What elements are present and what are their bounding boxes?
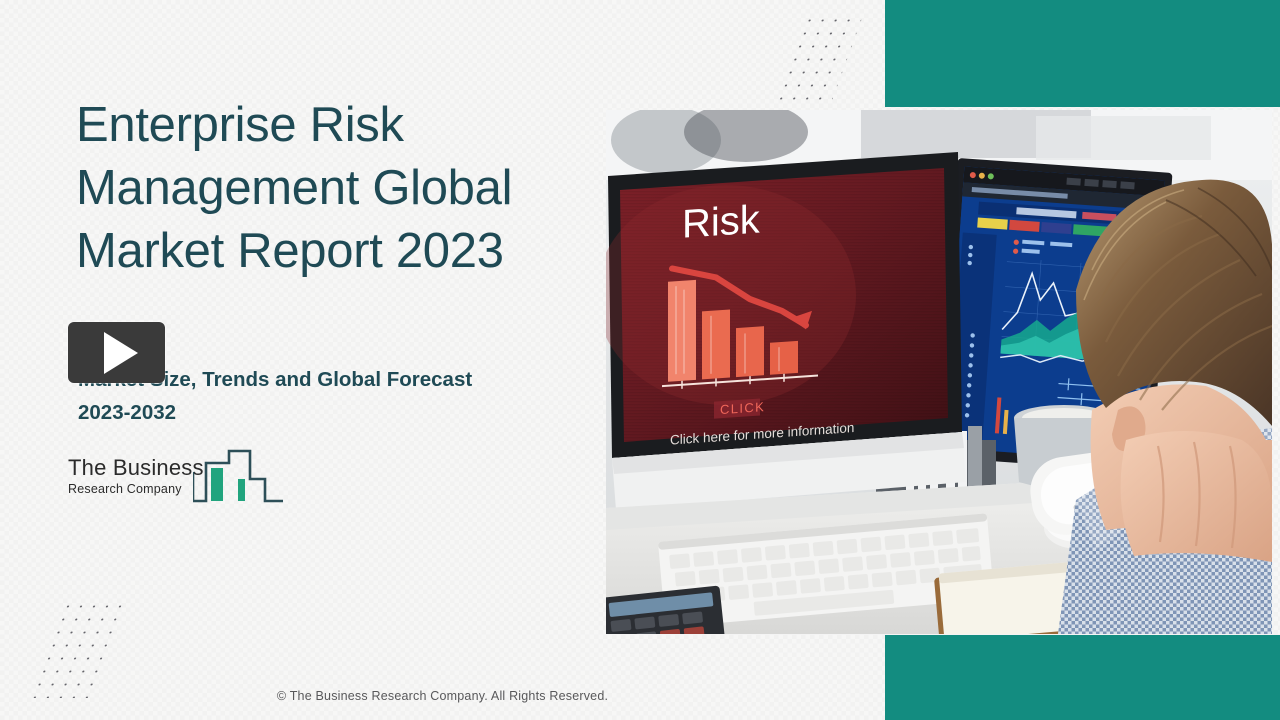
svg-text:Risk: Risk: [682, 197, 761, 246]
teal-accent-block-bottom: [885, 635, 1280, 720]
office-risk-dashboard-illustration: Risk: [606, 110, 1272, 634]
logo-wordmark: The Business Research Company: [68, 457, 204, 496]
company-logo[interactable]: The Business Research Company: [68, 449, 283, 511]
svg-text:CLICK: CLICK: [720, 399, 765, 417]
logo-line-two: Research Company: [68, 483, 204, 496]
hero-photo: Risk: [606, 110, 1272, 634]
teal-accent-block-top: [885, 0, 1280, 107]
dot-pattern-decoration-top: [771, 14, 864, 110]
play-icon: [104, 332, 138, 374]
copyright-footer: © The Business Research Company. All Rig…: [0, 689, 885, 703]
video-play-button[interactable]: [68, 322, 165, 383]
logo-line-one: The Business: [68, 457, 204, 479]
dot-pattern-decoration-bottom: [28, 600, 126, 698]
logo-bar-chart-icon: [193, 449, 283, 505]
presentation-slide: Enterprise Risk Management Global Market…: [0, 0, 1280, 720]
page-title: Enterprise Risk Management Global Market…: [76, 94, 546, 283]
